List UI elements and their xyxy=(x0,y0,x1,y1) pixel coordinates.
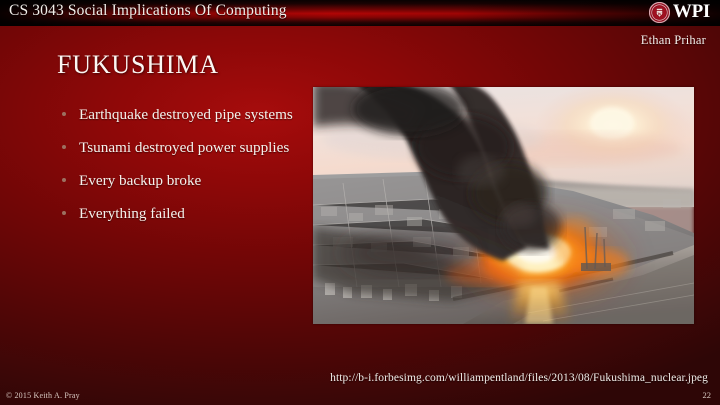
bullet-dot-icon xyxy=(62,112,66,116)
page-number: 22 xyxy=(703,390,712,400)
wpi-logo: W WPI xyxy=(649,1,710,23)
bullet-dot-icon xyxy=(62,211,66,215)
bullet-dot-icon xyxy=(62,145,66,149)
copyright-notice: © 2015 Keith A. Pray xyxy=(6,391,80,400)
list-item: Tsunami destroyed power supplies xyxy=(57,138,307,157)
author-name: Ethan Prihar xyxy=(641,33,706,48)
svg-text:W: W xyxy=(657,11,661,16)
list-item: Earthquake destroyed pipe systems xyxy=(57,105,307,124)
course-title: CS 3043 Social Implications Of Computing xyxy=(9,2,287,20)
wpi-wordmark: WPI xyxy=(673,1,710,23)
presentation-slide: CS 3043 Social Implications Of Computing… xyxy=(0,0,720,405)
bullet-text: Earthquake destroyed pipe systems xyxy=(79,106,293,123)
bullet-text: Everything failed xyxy=(79,205,185,222)
list-item: Every backup broke xyxy=(57,171,307,190)
bullet-text: Tsunami destroyed power supplies xyxy=(79,139,289,156)
bullet-dot-icon xyxy=(62,178,66,182)
image-credit-url[interactable]: http://b-i.forbesimg.com/williampentland… xyxy=(330,372,708,384)
bullet-text: Every backup broke xyxy=(79,172,201,189)
wpi-seal-icon: W xyxy=(649,2,670,23)
list-item: Everything failed xyxy=(57,204,307,223)
bullet-list: Earthquake destroyed pipe systems Tsunam… xyxy=(57,105,307,237)
slide-title: FUKUSHIMA xyxy=(57,50,219,80)
fukushima-explosion-photo xyxy=(313,87,694,324)
